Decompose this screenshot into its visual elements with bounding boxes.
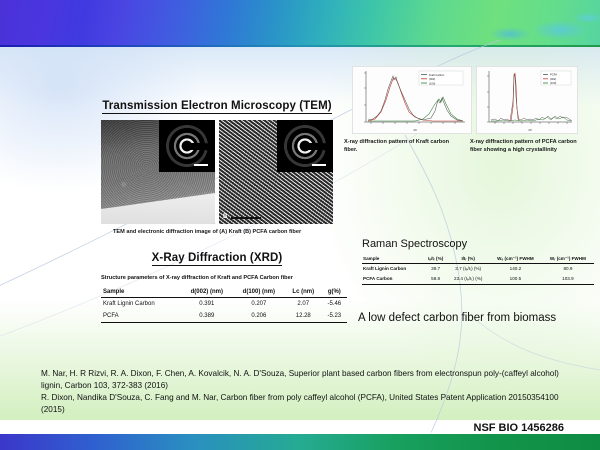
raman-row1-c2: 23.4 (Iₑ/Iᵣ) (%): [447, 274, 489, 285]
raman-row0-c2: 3.7 (Iₑ/Iᵣ) (%): [447, 263, 489, 274]
references-block: M. Nar, H. R Rizvi, R. A. Dixon, F. Chen…: [41, 368, 563, 416]
xrd-col-d002: d(002) (nm): [181, 287, 233, 298]
bottom-decorative-band: [0, 434, 600, 450]
svg-text:(100): (100): [550, 81, 556, 85]
raman-table-header-row: Sample Iₑ/Iᵣ (%) I/Iᵣ (%) Wₑ (cm⁻¹) FWHM…: [362, 254, 594, 263]
raman-row1-sample: PCFA Carbon: [362, 274, 424, 285]
xrd-row0-g: -5.46: [322, 298, 347, 311]
xrd-plot-pcfa: 2θ PCFA (002) (100): [476, 66, 578, 134]
svg-text:PCFA: PCFA: [550, 73, 557, 77]
raman-row0-c1: 39.7: [424, 263, 448, 274]
raman-row1-c4: 103.9: [542, 274, 594, 285]
xrd-col-sample: Sample: [101, 287, 181, 298]
xrd-plot-kraft-svg: 2θ Kraft Carbon (002) (100): [353, 67, 471, 133]
diffraction-scale-bar: [312, 164, 326, 166]
xrd-title-wrap: X-Ray Diffraction (XRD): [101, 248, 333, 266]
tem-caption: TEM and electronic diffraction image of …: [113, 228, 325, 236]
raman-row1-c1: 58.8: [424, 274, 448, 285]
xrd-table: Sample d(002) (nm) d(100) (nm) Lc (nm) g…: [101, 287, 347, 323]
tem-image-pcfa: B: [219, 120, 333, 224]
xrd-row1-lc: 12.28: [285, 310, 322, 323]
table-row: Kraft Lignin Carbon 39.7 3.7 (Iₑ/Iᵣ) (%)…: [362, 263, 594, 274]
xrd-row0-lc: 2.07: [285, 298, 322, 311]
xrd-row1-g: -5.23: [322, 310, 347, 323]
diffraction-scale-bar: [194, 164, 208, 166]
tem-scale-bar-kraft: [107, 217, 137, 220]
raman-col-idig: Iₑ/Iᵣ (%): [424, 254, 448, 263]
raman-col-iig: I/Iᵣ (%): [447, 254, 489, 263]
table-row: Kraft Lignin Carbon 0.391 0.207 2.07 -5.…: [101, 298, 347, 311]
raman-table: Sample Iₑ/Iᵣ (%) I/Iᵣ (%) Wₑ (cm⁻¹) FWHM…: [362, 254, 594, 285]
tem-panel-letter-pcfa: B: [223, 214, 227, 220]
plot2-xlabel: 2θ: [528, 128, 532, 132]
conclusion-tagline: A low defect carbon fiber from biomass: [358, 312, 556, 324]
tem-section-title: Transmission Electron Microscopy (TEM): [102, 100, 331, 114]
top-decorative-band: [0, 0, 600, 46]
xrd-row0-d002: 0.391: [181, 298, 233, 311]
svg-text:(002): (002): [550, 77, 556, 81]
xrd-row1-d002: 0.389: [181, 310, 233, 323]
xrd-table-header-row: Sample d(002) (nm) d(100) (nm) Lc (nm) g…: [101, 287, 347, 298]
tem-image-row: 50 nm B: [101, 120, 333, 224]
xrd-plot-kraft: 2θ Kraft Carbon (002) (100): [352, 66, 472, 134]
xrd-plot-kraft-caption: X-ray diffraction pattern of Kraft carbo…: [344, 138, 454, 155]
raman-row1-c3: 100.5: [489, 274, 542, 285]
tem-scale-label-kraft: 50 nm: [106, 211, 116, 215]
raman-row0-c3: 140.2: [489, 263, 542, 274]
raman-section: Raman Spectroscopy Sample Iₑ/Iᵣ (%) I/Iᵣ…: [362, 238, 598, 285]
plot1-xlabel: 2θ: [413, 128, 417, 132]
table-row: PCFA Carbon 58.8 23.4 (Iₑ/Iᵣ) (%) 100.5 …: [362, 274, 594, 285]
xrd-section-title: X-Ray Diffraction (XRD): [152, 252, 283, 266]
svg-text:Kraft Carbon: Kraft Carbon: [429, 73, 445, 77]
xrd-section: X-Ray Diffraction (XRD) Structure parame…: [101, 248, 351, 323]
diffraction-inset-pcfa: [277, 120, 333, 172]
raman-col-wg: Wᵣ (cm⁻¹) FWHM: [542, 254, 594, 263]
slide-canvas: Transmission Electron Microscopy (TEM) 5…: [0, 0, 600, 450]
tem-scale-bar-pcfa: [231, 217, 261, 220]
xrd-row0-d100: 0.207: [233, 298, 285, 311]
svg-text:(100): (100): [429, 81, 435, 85]
tem-title-wrap: Transmission Electron Microscopy (TEM): [101, 96, 333, 114]
svg-text:(002): (002): [429, 77, 435, 81]
table-row: PCFA 0.389 0.206 12.28 -5.23: [101, 310, 347, 323]
xrd-row1-d100: 0.206: [233, 310, 285, 323]
xrd-col-lc: Lc (nm): [285, 287, 322, 298]
raman-col-sample: Sample: [362, 254, 424, 263]
raman-row0-sample: Kraft Lignin Carbon: [362, 263, 424, 274]
xrd-plot-pcfa-caption: X-ray diffraction pattern of PCFA carbon…: [470, 138, 580, 155]
tem-section: Transmission Electron Microscopy (TEM) 5…: [101, 96, 333, 236]
plot1-legend: Kraft Carbon (002) (100): [419, 71, 463, 85]
xrd-row0-sample: Kraft Lignin Carbon: [101, 298, 181, 311]
tem-image-kraft: 50 nm: [101, 120, 215, 224]
plot2-legend: PCFA (002) (100): [541, 71, 571, 85]
raman-row0-c4: 80.9: [542, 263, 594, 274]
reference-1: M. Nar, H. R Rizvi, R. A. Dixon, F. Chen…: [41, 368, 563, 392]
xrd-row1-sample: PCFA: [101, 310, 181, 323]
xrd-col-d100: d(100) (nm): [233, 287, 285, 298]
reference-2: R. Dixon, Nandika D'Souza, C. Fang and M…: [41, 392, 563, 416]
diffraction-inset-kraft: [159, 120, 215, 172]
raman-section-title: Raman Spectroscopy: [362, 238, 598, 250]
xrd-col-g: g(%): [322, 287, 347, 298]
xrd-table-subtitle: Structure parameters of X-ray diffractio…: [101, 274, 351, 282]
raman-col-wd: Wₑ (cm⁻¹) FWHM: [489, 254, 542, 263]
xrd-plot-pcfa-svg: 2θ PCFA (002) (100): [477, 67, 577, 133]
